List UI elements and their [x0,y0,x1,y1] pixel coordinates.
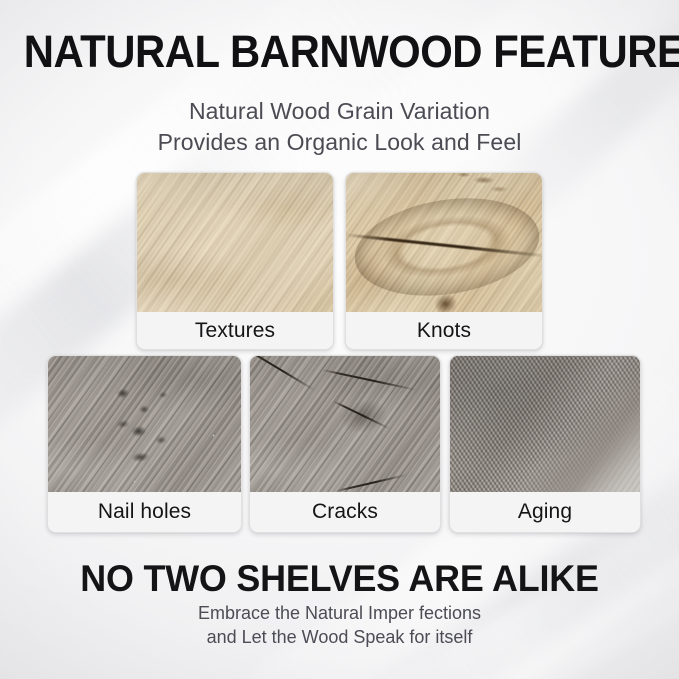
feature-card-cracks[interactable]: Cracks [249,355,441,533]
footer-tagline: Embrace the Natural Imper fections and L… [0,601,679,649]
feature-caption-cracks: Cracks [250,492,440,532]
feature-image-knots [346,173,542,314]
feature-image-textures [137,173,333,314]
feature-card-aging[interactable]: Aging [449,355,641,533]
feature-label: Cracks [312,500,378,524]
wood-surface-knot-oak [346,173,542,314]
feature-caption-nail-holes: Nail holes [48,492,241,532]
feature-label: Textures [195,319,275,343]
wood-grain-highlights [137,173,333,314]
footer-headline: NO TWO SHELVES ARE ALIKE [10,558,669,600]
wood-surface-grey [250,356,440,494]
feature-image-nail-holes [48,356,241,494]
barnwood-features-infographic: NATURAL BARNWOOD FEATURES Natural Wood G… [0,0,679,679]
wood-surface-grey-aged [450,356,640,494]
nail-specks [48,356,241,494]
feature-caption-textures: Textures [137,312,333,349]
feature-image-aging [450,356,640,494]
footer-tagline-line-2: and Let the Wood Speak for itself [0,625,679,649]
page-subtitle-line-2: Provides an Organic Look and Feel [0,127,679,158]
feature-label: Nail holes [98,500,191,524]
feature-label: Knots [417,319,471,343]
aging-band-grain [450,356,640,494]
wood-surface-grey [48,356,241,494]
feature-card-knots[interactable]: Knots [345,172,543,350]
feature-caption-knots: Knots [346,312,542,349]
feature-caption-aging: Aging [450,492,640,532]
page-title: NATURAL BARNWOOD FEATURES [24,26,655,78]
page-subtitle-line-1: Natural Wood Grain Variation [0,96,679,127]
page-subtitle: Natural Wood Grain Variation Provides an… [0,96,679,158]
footer-tagline-line-1: Embrace the Natural Imper fections [0,601,679,625]
feature-card-nail-holes[interactable]: Nail holes [47,355,242,533]
wood-surface-light-oak [137,173,333,314]
feature-image-cracks [250,356,440,494]
feature-card-textures[interactable]: Textures [136,172,334,350]
feature-label: Aging [518,500,572,524]
